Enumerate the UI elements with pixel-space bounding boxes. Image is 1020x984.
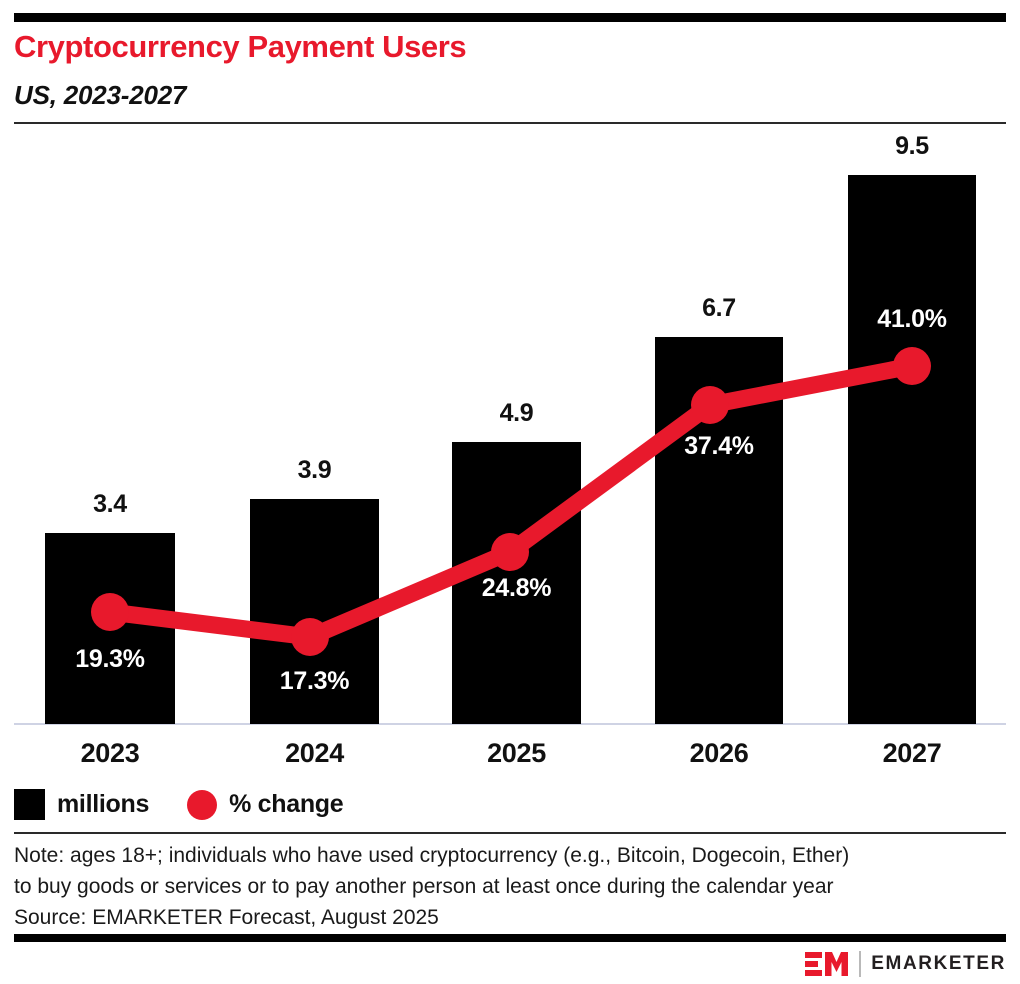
x-tick-label-2027: 2027 bbox=[848, 738, 976, 769]
bar-value-2024: 3.9 bbox=[250, 456, 379, 485]
bar-value-2023: 3.4 bbox=[45, 490, 175, 519]
circle-swatch-icon bbox=[187, 790, 217, 820]
brand-name: EMARKETER bbox=[871, 953, 1006, 975]
square-swatch-icon bbox=[14, 789, 45, 820]
footer-divider-top bbox=[14, 832, 1006, 834]
source-line: Source: EMARKETER Forecast, August 2025 bbox=[14, 902, 1006, 933]
brand-divider bbox=[859, 951, 861, 977]
em-logo-icon bbox=[805, 950, 849, 978]
legend-label-millions: millions bbox=[57, 790, 149, 819]
pct-label-2027: 41.0% bbox=[848, 305, 976, 334]
bar-2027 bbox=[848, 175, 976, 724]
bar-2026 bbox=[655, 337, 783, 724]
note-line-2: to buy goods or services or to pay anoth… bbox=[14, 871, 1006, 902]
chart-legend: millions % change bbox=[14, 789, 343, 820]
bar-value-2026: 6.7 bbox=[655, 294, 783, 323]
footnote-block: Note: ages 18+; individuals who have use… bbox=[14, 840, 1006, 933]
bar-value-2025: 4.9 bbox=[452, 399, 581, 428]
x-tick-label-2026: 2026 bbox=[655, 738, 783, 769]
legend-item-percent-change: % change bbox=[187, 790, 343, 820]
brand-lockup: EMARKETER bbox=[805, 950, 1006, 978]
pct-label-2025: 24.8% bbox=[452, 574, 581, 603]
bar-2023 bbox=[45, 533, 175, 724]
legend-item-millions: millions bbox=[14, 789, 149, 820]
x-tick-label-2023: 2023 bbox=[45, 738, 175, 769]
plot-area: 3.4 3.9 4.9 6.7 9.5 19.3% 17.3% 24.8% 37… bbox=[0, 0, 1020, 790]
x-tick-label-2025: 2025 bbox=[452, 738, 581, 769]
pct-label-2023: 19.3% bbox=[45, 645, 175, 674]
bar-value-2027: 9.5 bbox=[848, 132, 976, 161]
legend-label-percent-change: % change bbox=[229, 790, 343, 819]
pct-label-2026: 37.4% bbox=[655, 432, 783, 461]
x-tick-label-2024: 2024 bbox=[250, 738, 379, 769]
pct-label-2024: 17.3% bbox=[250, 667, 379, 696]
note-line-1: Note: ages 18+; individuals who have use… bbox=[14, 840, 1006, 871]
chart-card: Cryptocurrency Payment Users US, 2023-20… bbox=[0, 0, 1020, 984]
footer-divider-bottom bbox=[14, 934, 1006, 942]
